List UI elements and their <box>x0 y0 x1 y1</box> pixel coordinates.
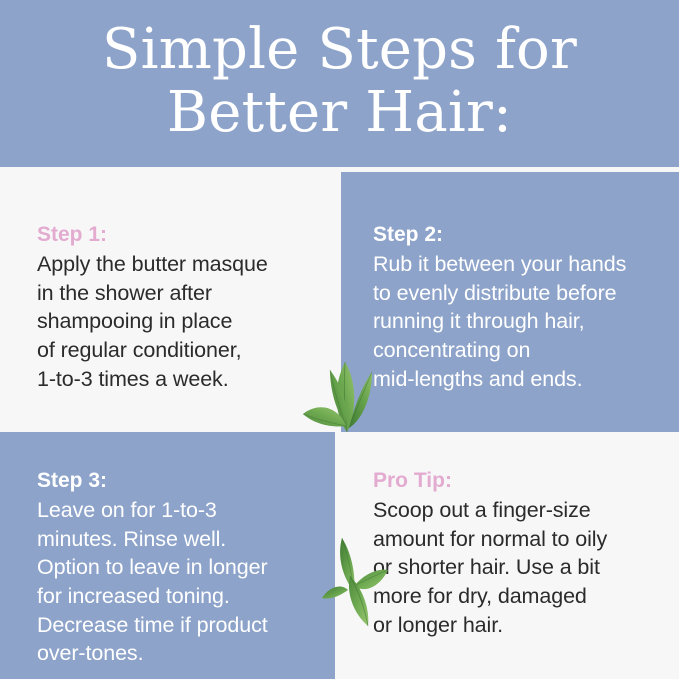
step-label-step-3: Step 3: <box>37 467 323 495</box>
step-card-step-1: Step 1: Apply the butter masque in the s… <box>0 172 335 432</box>
step-card-step-3: Step 3: Leave on for 1-to-3 minutes. Rin… <box>0 432 335 679</box>
step-label-pro-tip: Pro Tip: <box>373 467 667 495</box>
infographic-canvas: Simple Steps for Better Hair: Step 1: Ap… <box>0 0 679 679</box>
steps-grid: Step 1: Apply the butter masque in the s… <box>0 167 679 679</box>
step-card-step-2: Step 2: Rub it between your hands to eve… <box>341 172 679 432</box>
step-body-step-2: Rub it between your hands to evenly dist… <box>373 250 667 393</box>
step-body-step-1: Apply the butter masque in the shower af… <box>37 250 323 393</box>
page-title: Simple Steps for Better Hair: <box>102 19 577 148</box>
header-band: Simple Steps for Better Hair: <box>0 0 679 167</box>
step-card-pro-tip: Pro Tip: Scoop out a finger-size amount … <box>341 432 679 679</box>
step-label-step-1: Step 1: <box>37 221 323 249</box>
step-body-pro-tip: Scoop out a finger-size amount for norma… <box>373 496 667 639</box>
step-body-step-3: Leave on for 1-to-3 minutes. Rinse well.… <box>37 496 323 668</box>
step-label-step-2: Step 2: <box>373 221 667 249</box>
